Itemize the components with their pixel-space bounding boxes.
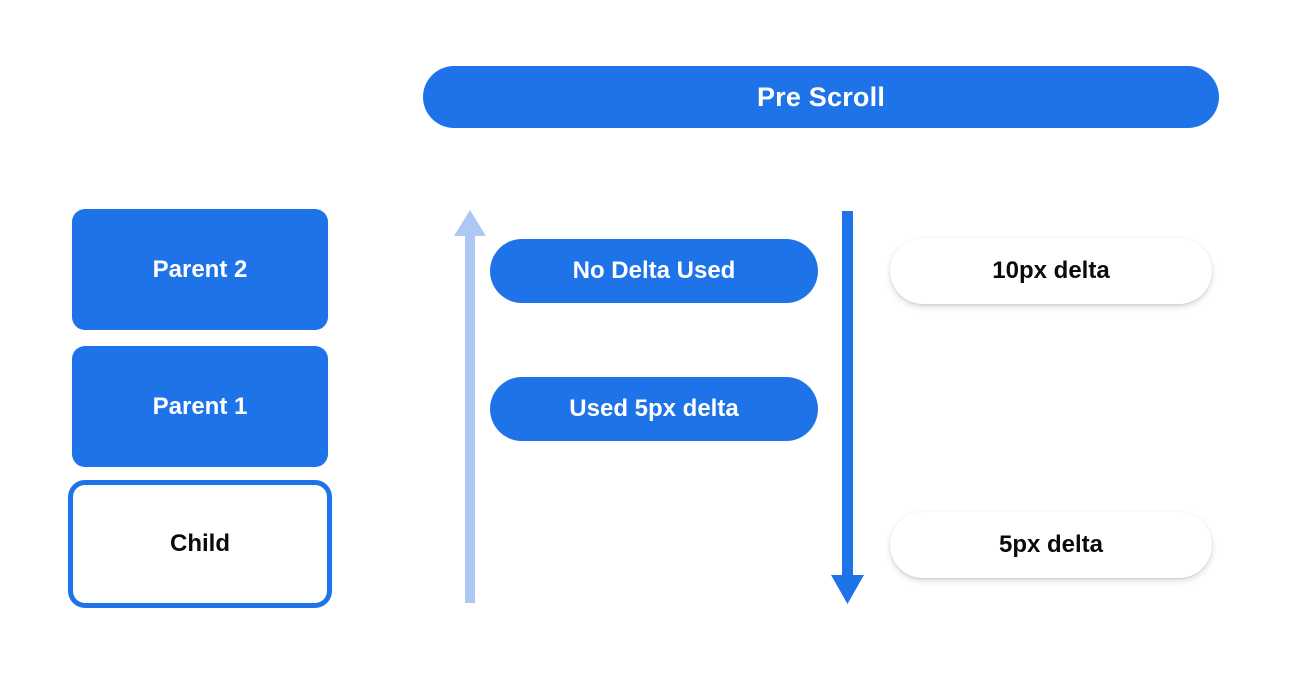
scroll-down-arrow-icon bbox=[828, 205, 868, 609]
delta-pill-no-delta-used: No Delta Used bbox=[490, 239, 818, 303]
delta-pill-no-delta-used-label: No Delta Used bbox=[573, 257, 736, 285]
value-pill-5px-delta-label: 5px delta bbox=[999, 531, 1103, 559]
hierarchy-box-parent-2: Parent 2 bbox=[72, 209, 328, 330]
pre-scroll-header-label: Pre Scroll bbox=[757, 82, 885, 113]
delta-pill-used-5px-delta-label: Used 5px delta bbox=[569, 395, 738, 423]
value-pill-10px-delta-label: 10px delta bbox=[992, 257, 1109, 285]
hierarchy-box-child: Child bbox=[68, 480, 332, 608]
view-hierarchy-stack: Parent 2 Parent 1 Child bbox=[72, 209, 328, 608]
hierarchy-box-parent-2-label: Parent 2 bbox=[153, 256, 248, 284]
delta-pill-used-5px-delta: Used 5px delta bbox=[490, 377, 818, 441]
hierarchy-box-parent-1: Parent 1 bbox=[72, 346, 328, 467]
hierarchy-box-child-label: Child bbox=[170, 530, 230, 558]
hierarchy-box-parent-1-label: Parent 1 bbox=[153, 393, 248, 421]
value-pill-10px-delta: 10px delta bbox=[890, 238, 1212, 304]
pre-scroll-header-bar: Pre Scroll bbox=[423, 66, 1219, 128]
bubble-up-arrow-icon bbox=[450, 205, 490, 605]
value-pill-5px-delta: 5px delta bbox=[890, 512, 1212, 578]
diagram-canvas: Pre Scroll Parent 2 Parent 1 Child No De… bbox=[0, 0, 1312, 680]
